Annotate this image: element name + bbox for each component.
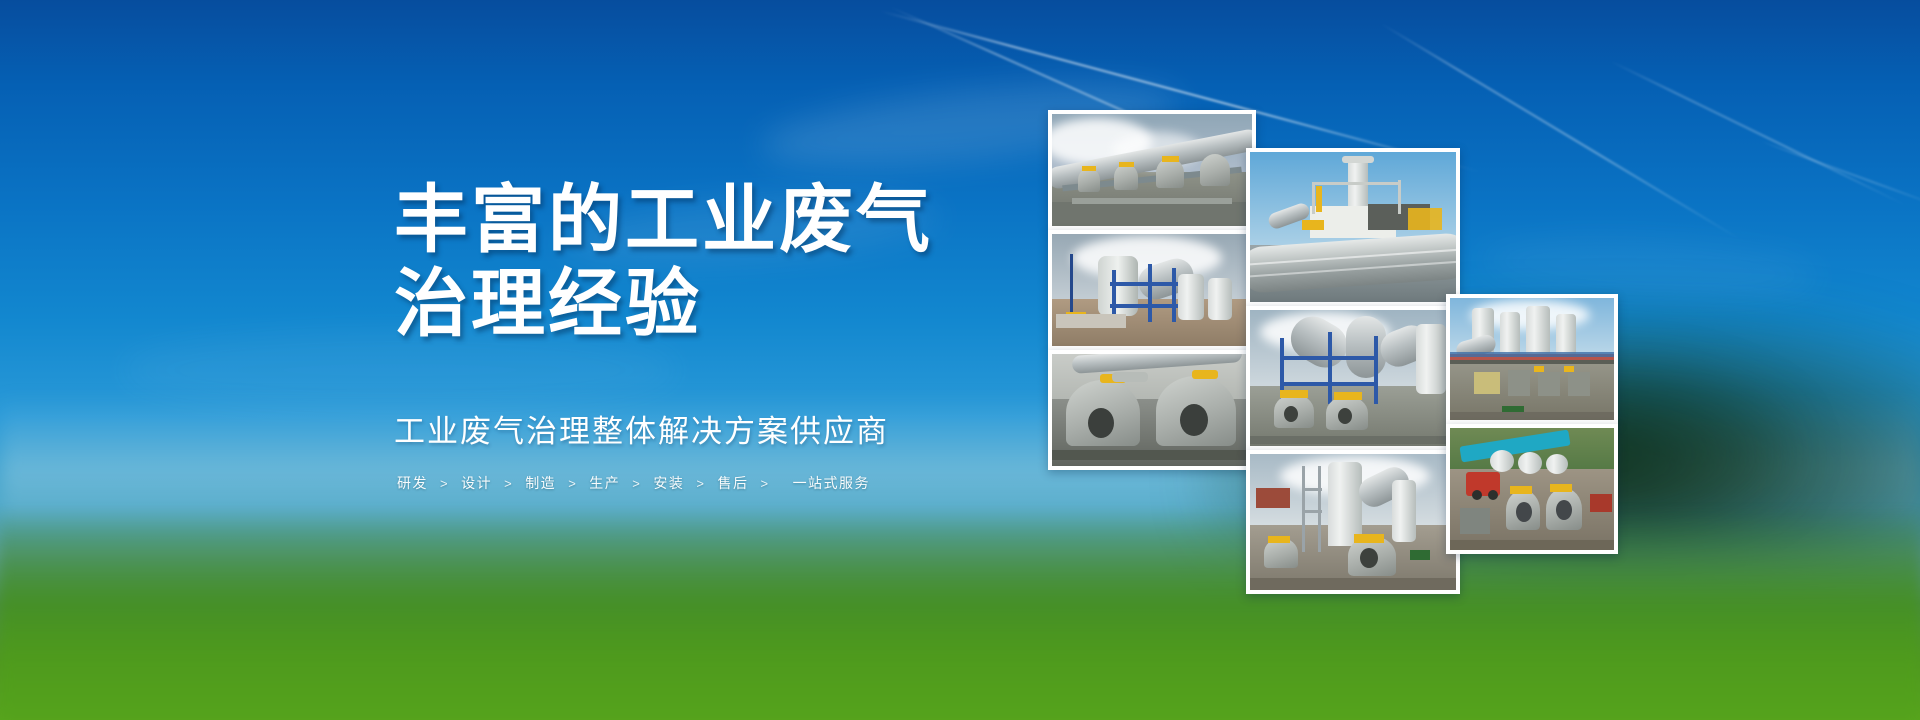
photo-collage (1040, 100, 1610, 620)
chevron-right-icon: > (687, 476, 714, 491)
breadcrumb-final: 一站式服务 (779, 473, 874, 493)
banner-subtitle: 工业废气治理整体解决方案供应商 (394, 406, 1014, 451)
gallery-photo-5[interactable] (1246, 306, 1460, 450)
gallery-photo-3[interactable] (1048, 350, 1256, 470)
breadcrumb: 研发 > 设计 > 制造 > 生产 > 安装 > 售后 > 一站式服务 (394, 473, 1014, 493)
banner-copy: 丰富的工业废气 治理经验 工业废气治理整体解决方案供应商 研发 > 设计 > 制… (394, 178, 1014, 493)
chevron-right-icon: > (495, 476, 522, 491)
chevron-right-icon: > (751, 476, 778, 491)
chevron-right-icon: > (623, 476, 650, 491)
breadcrumb-step-2: 设计 (458, 473, 495, 493)
breadcrumb-step-6: 售后 (714, 473, 751, 493)
breadcrumb-step-1: 研发 (394, 473, 431, 493)
gallery-photo-7[interactable] (1446, 294, 1618, 424)
grass-foreground (0, 510, 1920, 720)
hero-banner: 丰富的工业废气 治理经验 工业废气治理整体解决方案供应商 研发 > 设计 > 制… (0, 0, 1920, 720)
page-title: 丰富的工业废气 治理经验 (394, 178, 1014, 346)
gallery-photo-8[interactable] (1446, 424, 1618, 554)
chevron-right-icon: > (559, 476, 586, 491)
breadcrumb-step-4: 生产 (586, 473, 623, 493)
gallery-photo-2[interactable] (1048, 230, 1256, 350)
breadcrumb-step-5: 安装 (650, 473, 687, 493)
gallery-photo-1[interactable] (1048, 110, 1256, 230)
gallery-photo-4[interactable] (1246, 148, 1460, 306)
breadcrumb-step-3: 制造 (522, 473, 559, 493)
chevron-right-icon: > (431, 476, 458, 491)
gallery-photo-6[interactable] (1246, 450, 1460, 594)
